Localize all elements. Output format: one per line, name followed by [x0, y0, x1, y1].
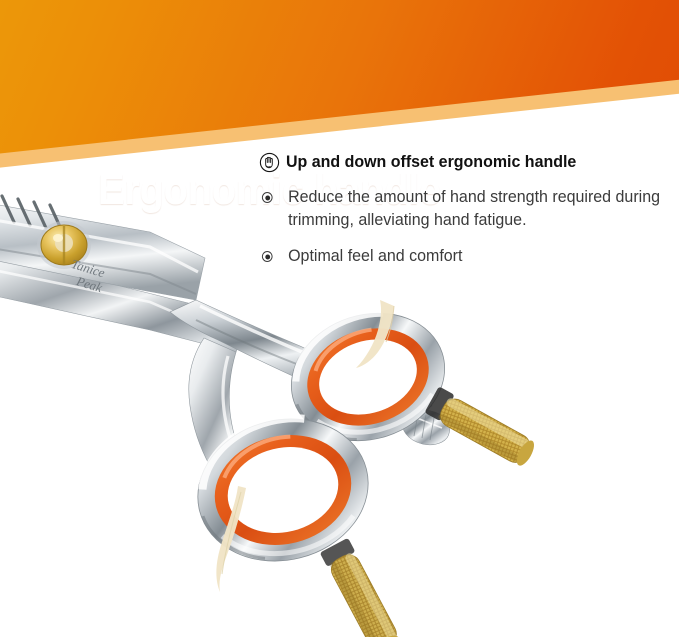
infographic-canvas: Ergonomic handle	[0, 0, 679, 637]
bullet-icon	[262, 251, 273, 262]
brand-engraving: Tanice Peak	[65, 256, 108, 295]
pivot-screw	[37, 221, 91, 269]
feature-list: Up and down offset ergonomic handle Redu…	[259, 152, 679, 268]
hair-strand-upper	[356, 300, 394, 368]
shear-arm-lower	[189, 338, 268, 512]
bullet-icon	[262, 192, 273, 203]
list-item: Optimal feel and comfort	[259, 245, 666, 268]
hand-icon	[259, 152, 280, 173]
list-item: Reduce the amount of hand strength requi…	[259, 186, 666, 232]
banner-fill	[0, 0, 679, 160]
handle-ring-lower	[183, 401, 384, 578]
list-item-text: Reduce the amount of hand strength requi…	[288, 188, 660, 229]
handle-connector	[403, 410, 450, 445]
finger-rest-lower	[320, 538, 404, 637]
feature-heading-row: Up and down offset ergonomic handle	[259, 152, 679, 173]
hair-strand-lower	[216, 486, 246, 592]
header-banner	[0, 0, 679, 160]
feature-bullet-list: Reduce the amount of hand strength requi…	[259, 186, 679, 268]
svg-text:Tanice: Tanice	[70, 256, 107, 280]
finger-rest-upper	[424, 386, 539, 468]
svg-text:Peak: Peak	[74, 273, 104, 295]
shear-blade-lower	[0, 252, 244, 352]
feature-heading: Up and down offset ergonomic handle	[286, 152, 576, 172]
shear-arm-upper	[170, 300, 432, 411]
list-item-text: Optimal feel and comfort	[288, 247, 462, 265]
handle-ring-upper	[275, 294, 462, 460]
